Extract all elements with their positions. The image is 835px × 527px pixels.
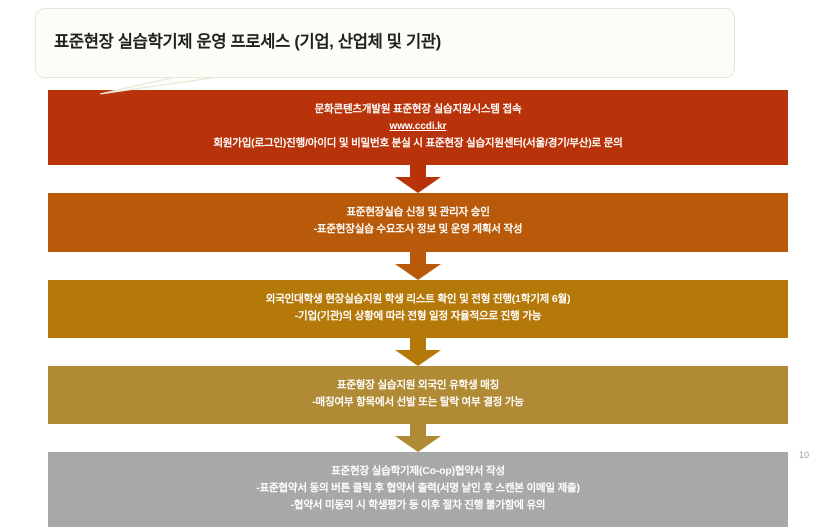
page-number: 10 bbox=[799, 450, 809, 460]
flow-step-box: 표준현장실습 신청 및 관리자 승인-표준현장실습 수요조사 정보 및 운영 계… bbox=[48, 193, 788, 251]
flow-arrow-container bbox=[48, 424, 788, 452]
flow-step-heading: 표준현장 실습학기제(Co-op)협약서 작성 bbox=[62, 465, 774, 478]
flow-step-heading: 표준현장실습 신청 및 관리자 승인 bbox=[62, 206, 774, 219]
flow-arrow-container bbox=[48, 165, 788, 193]
down-arrow-icon bbox=[395, 252, 441, 280]
flow-step-box: 표준현장 실습학기제(Co-op)협약서 작성-표준협약서 동의 버튼 클릭 후… bbox=[48, 452, 788, 527]
flow-step-detail: -매칭여부 항목에서 선발 또는 탈락 여부 결정 가능 bbox=[62, 396, 774, 409]
down-arrow-icon bbox=[395, 424, 441, 452]
down-arrow-icon bbox=[395, 338, 441, 366]
flow-step-heading: 문화콘텐츠개발원 표준현장 실습지원시스템 접속 bbox=[62, 103, 774, 116]
flow-step-detail: -기업(기관)의 상황에 따라 전형 일정 자율적으로 진행 가능 bbox=[62, 310, 774, 323]
flow-step-detail: 회원가입(로그인)진행/아이디 및 비밀번호 분실 시 표준현장 실습지원센터(… bbox=[62, 137, 774, 150]
flow-step-heading: 외국인대학생 현장실습지원 학생 리스트 확인 및 전형 진행(1학기제 6월) bbox=[62, 293, 774, 306]
page-title: 표준현장 실습학기제 운영 프로세스 (기업, 산업체 및 기관) bbox=[54, 33, 441, 53]
slide-title-bubble: 표준현장 실습학기제 운영 프로세스 (기업, 산업체 및 기관) bbox=[35, 8, 735, 78]
flow-step-detail: -표준현장실습 수요조사 정보 및 운영 계획서 작성 bbox=[62, 223, 774, 236]
flow-step-box: 문화콘텐츠개발원 표준현장 실습지원시스템 접속www.ccdi.kr회원가입(… bbox=[48, 90, 788, 165]
flow-step-detail: -표준협약서 동의 버튼 클릭 후 협약서 출력(서명 날인 후 스캔본 이메일… bbox=[62, 482, 774, 495]
flow-step-detail: -협약서 미동의 시 학생평가 등 이후 절차 진행 불가함에 유의 bbox=[62, 499, 774, 512]
process-flow-diagram: 문화콘텐츠개발원 표준현장 실습지원시스템 접속www.ccdi.kr회원가입(… bbox=[48, 90, 788, 527]
flow-step-heading: 표준형장 실습지원 외국인 유학생 매칭 bbox=[62, 379, 774, 392]
flow-arrow-container bbox=[48, 252, 788, 280]
system-url-link[interactable]: www.ccdi.kr bbox=[62, 121, 774, 132]
flow-arrow-container bbox=[48, 338, 788, 366]
down-arrow-icon bbox=[395, 165, 441, 193]
flow-step-box: 표준형장 실습지원 외국인 유학생 매칭-매칭여부 항목에서 선발 또는 탈락 … bbox=[48, 366, 788, 424]
flow-step-box: 외국인대학생 현장실습지원 학생 리스트 확인 및 전형 진행(1학기제 6월)… bbox=[48, 280, 788, 338]
